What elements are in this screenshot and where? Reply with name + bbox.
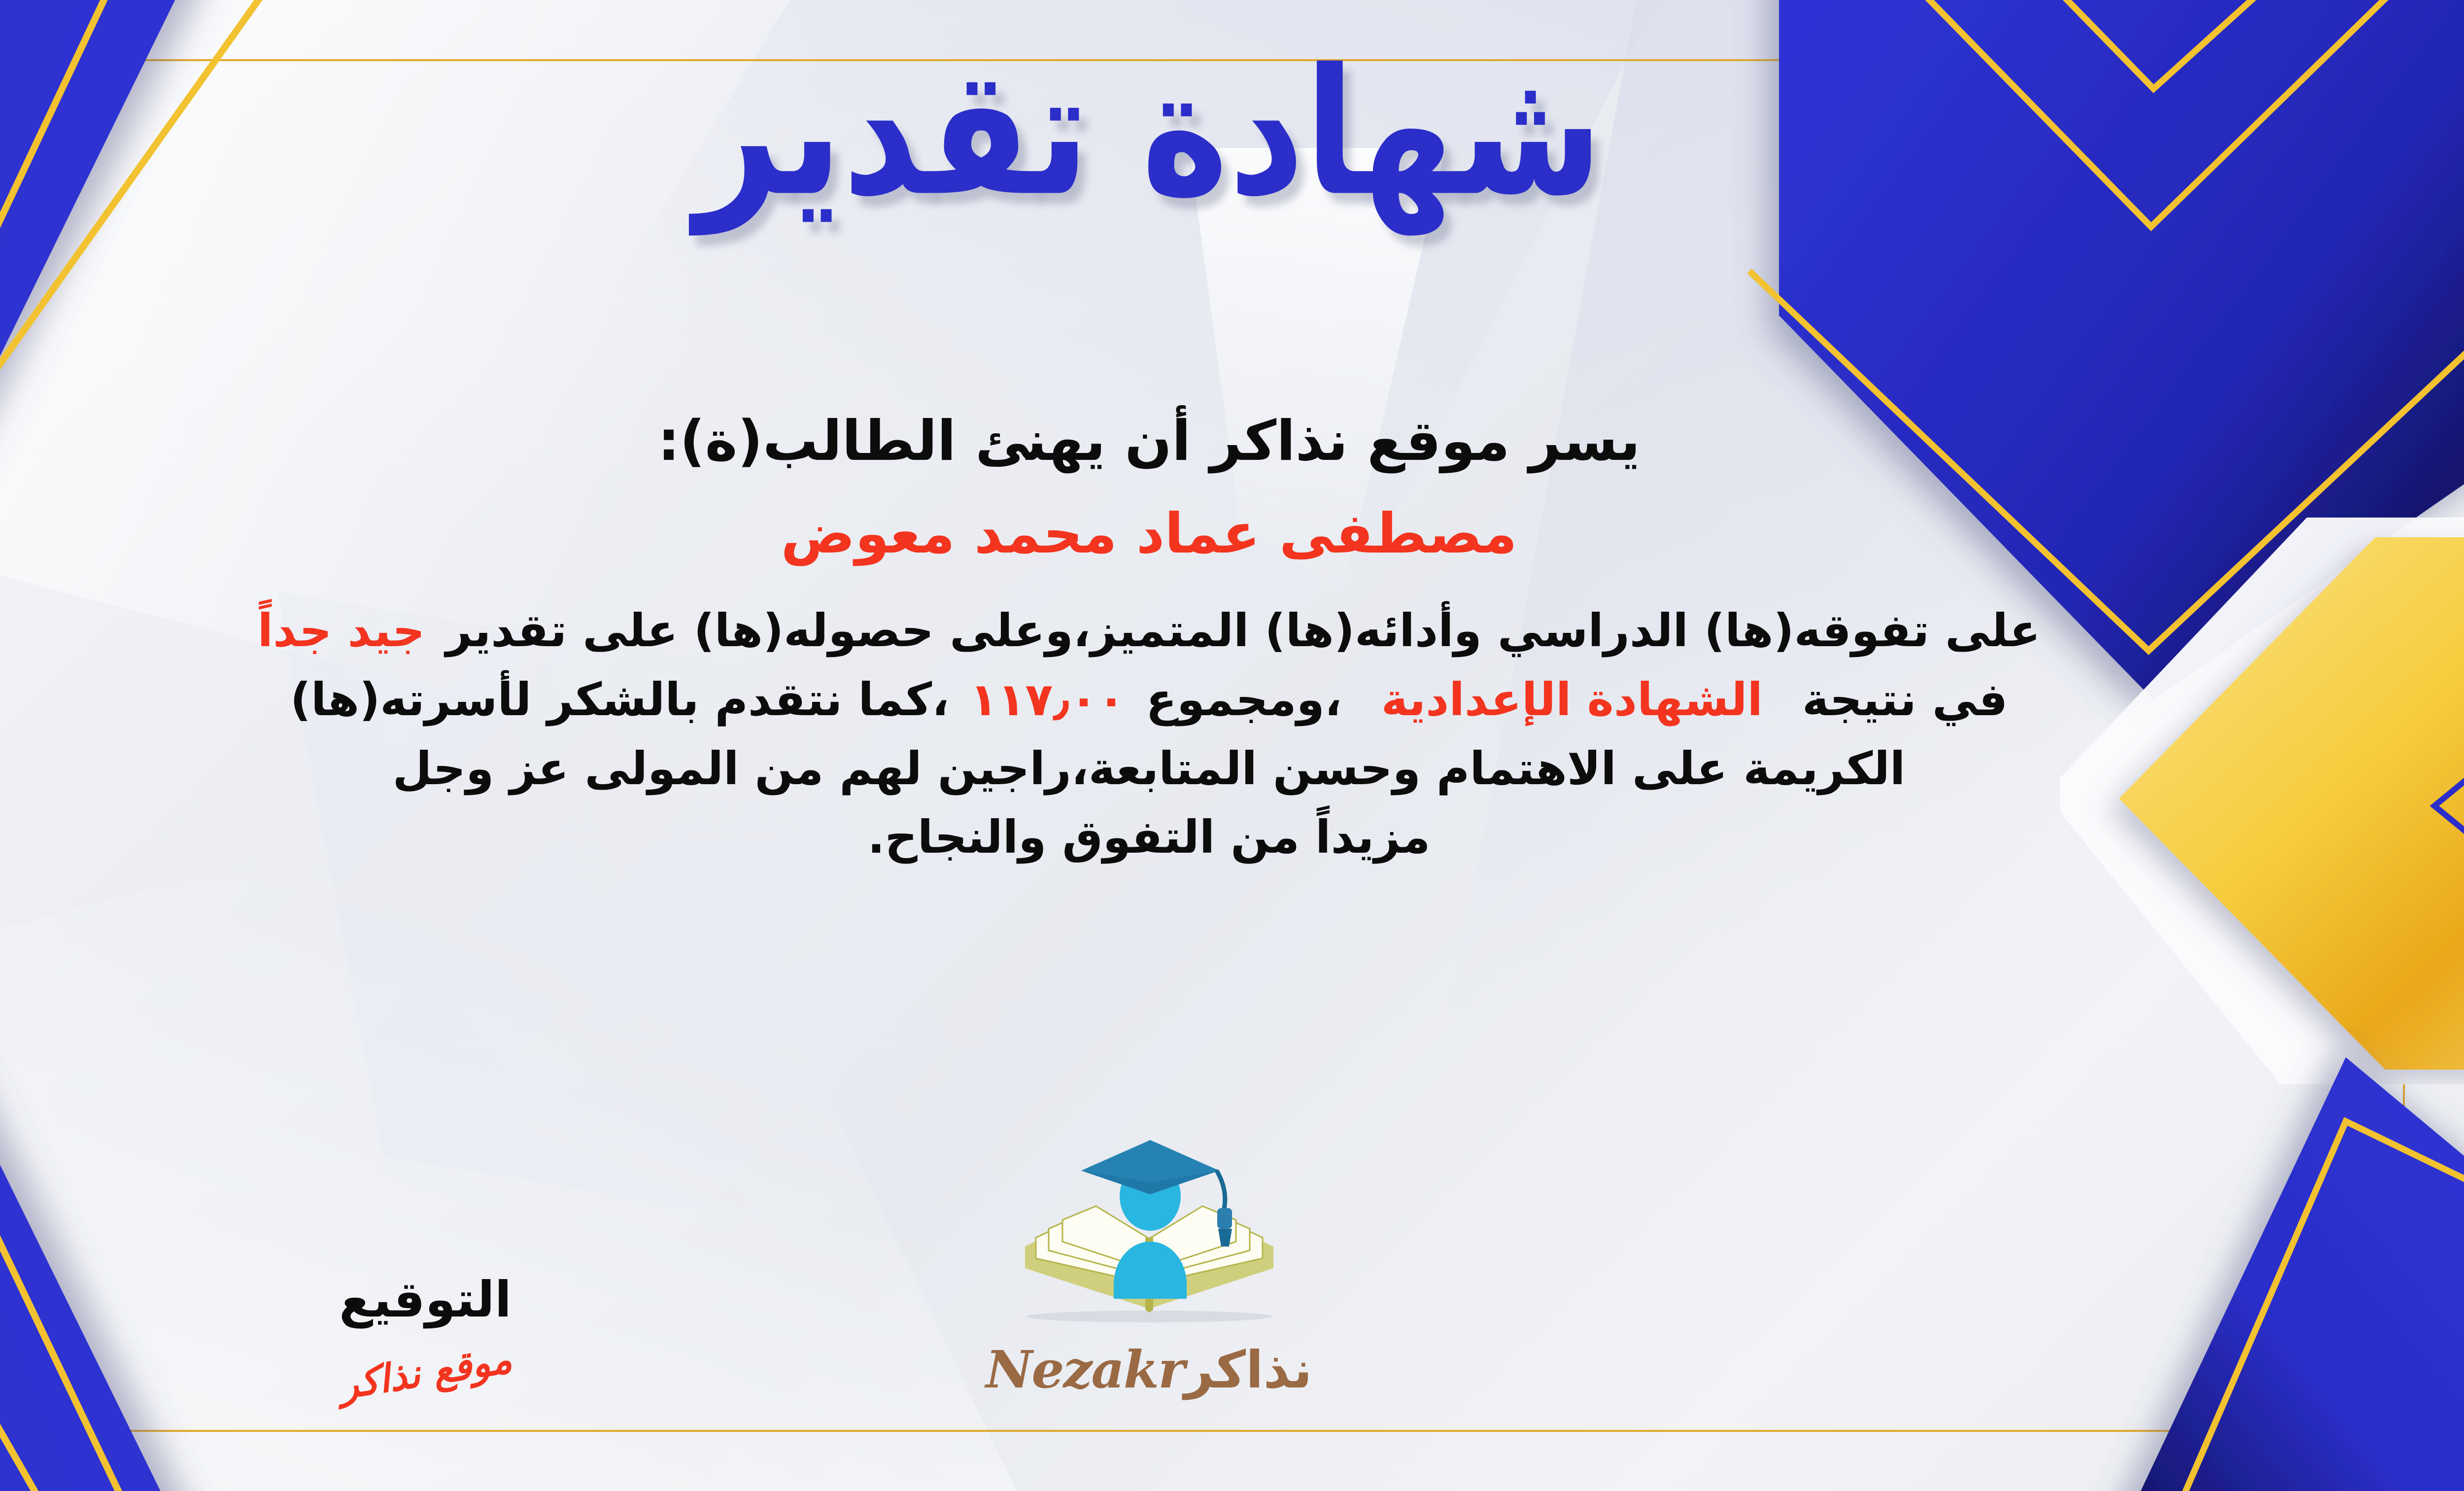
certificate-page: شهادة تقدير يسر موقع نذاكر أن يهنئ الطال…	[0, 0, 2464, 1491]
certificate-title-wrap: شهادة تقدير	[0, 59, 2464, 207]
grade-value: جيد جداً	[257, 604, 425, 657]
total-score-value: ١١٧٫٠٠	[970, 673, 1125, 726]
graduation-book-icon	[962, 1136, 1336, 1343]
page-title: شهادة تقدير	[695, 46, 1603, 220]
exam-name: الشهادة الإعدادية	[1381, 673, 1763, 726]
logo-wordmark: نذاكرNezakr	[962, 1339, 1336, 1400]
salutation-text: يسر موقع نذاكر أن يهنئ الطالب(ة):	[0, 409, 2365, 473]
total-label: ،ومجموع	[1146, 673, 1342, 726]
signature-label: التوقيع	[287, 1271, 563, 1328]
certificate-body: يسر موقع نذاكر أن يهنئ الطالب(ة): مصطفى …	[0, 409, 2365, 872]
student-name: مصطفى عماد محمد معوض	[0, 502, 2365, 566]
thanks-family-text: ،كما نتقدم بالشكر لأسرته(ها)	[290, 673, 949, 726]
signature-script: موقع نذاكر	[336, 1337, 514, 1408]
award-line3-text: الكريمة على الاهتمام وحسن المتابعة،راجين…	[393, 742, 1906, 795]
award-line4-text: مزيداً من التفوق والنجاح.	[868, 811, 1431, 864]
award-line1-text: على تفوقه(ها) الدراسي وأدائه(ها) المتميز…	[445, 604, 2040, 657]
logo-latin: Nezakr	[986, 1339, 1184, 1400]
logo-arabic: نذاكر	[1184, 1340, 1312, 1400]
result-prefix-text: في نتيجة	[1802, 673, 2008, 726]
signature-block: التوقيع موقع نذاكر	[287, 1271, 563, 1395]
brand-logo: نذاكرNezakr	[962, 1136, 1336, 1400]
award-paragraph: على تفوقه(ها) الدراسي وأدائه(ها) المتميز…	[0, 596, 2365, 872]
certificate-footer: التوقيع موقع نذاكر	[0, 1094, 2385, 1400]
